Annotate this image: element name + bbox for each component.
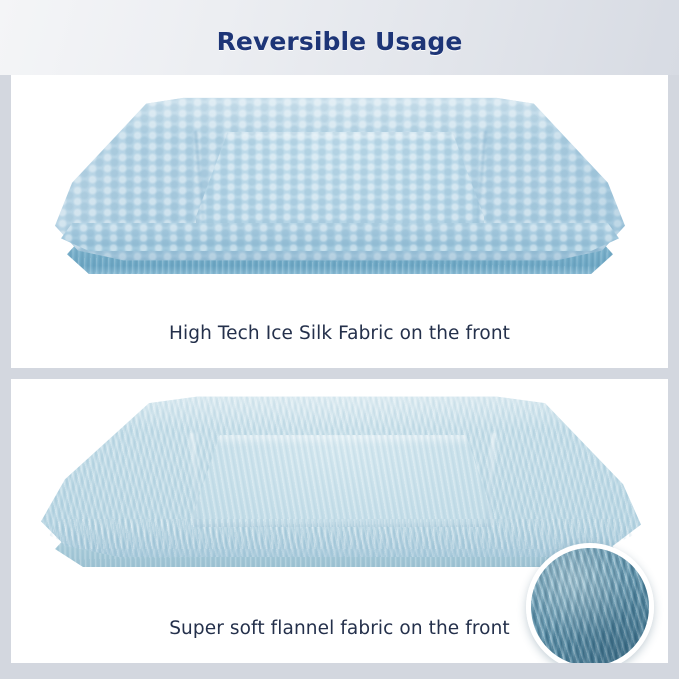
pet-bed-flannel-image [41, 395, 641, 600]
pet-bed-ice-silk-image [55, 97, 625, 302]
flannel-caption: Super soft flannel fabric on the front [11, 618, 668, 639]
bed-front-bolster [49, 519, 633, 549]
ice-silk-panel: High Tech Ice Silk Fabric on the front [11, 75, 668, 368]
bed-inner-sleeping-area [196, 132, 484, 228]
page-title: Reversible Usage [0, 27, 679, 56]
infographic-canvas: Reversible Usage High Tech Ice Silk Fabr… [0, 0, 679, 679]
flannel-panel: Super soft flannel fabric on the front [11, 379, 668, 663]
bed-inner-sleeping-area [193, 435, 493, 527]
ice-silk-caption: High Tech Ice Silk Fabric on the front [11, 323, 668, 344]
bed-front-bolster [61, 223, 619, 251]
header-band: Reversible Usage [0, 0, 679, 75]
fabric-closeup-circle [526, 543, 654, 663]
